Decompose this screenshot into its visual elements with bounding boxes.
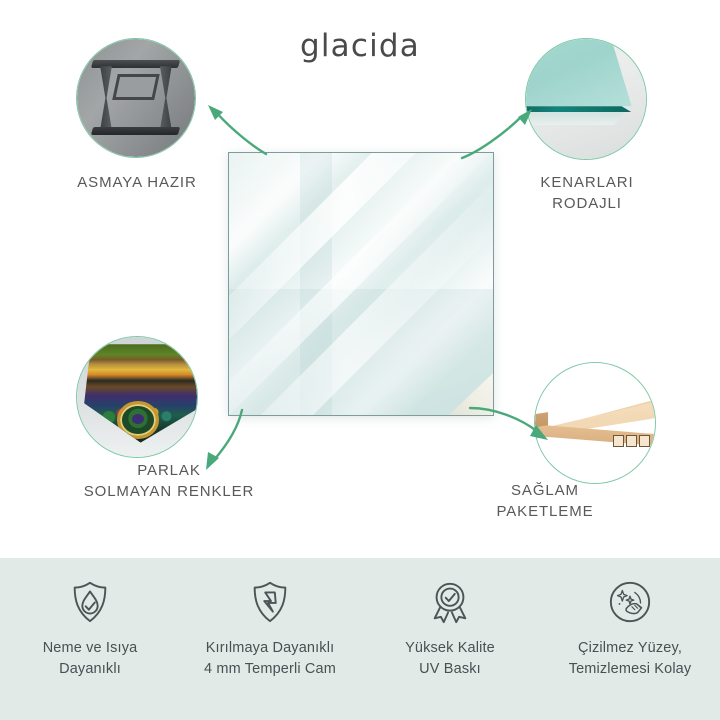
bracket-middle-slot: [112, 74, 159, 100]
bottom-feature-text-uv-print: Yüksek Kalite UV Baskı: [405, 638, 495, 680]
keep-dry-label-icon: [639, 435, 650, 447]
break-resistant-line2: 4 mm Temperli Cam: [204, 659, 336, 680]
caption-edge-line1: KENARLARI: [476, 172, 698, 193]
feature-image-packaging: [534, 362, 656, 484]
caption-colors: PARLAK SOLMAYAN RENKLER: [24, 460, 314, 503]
uv-print-line1: Yüksek Kalite: [405, 638, 495, 659]
feature-image-colors: [76, 336, 198, 458]
easy-clean-line2: Temizlemesi Kolay: [569, 659, 692, 680]
mount-bracket-shape: [97, 60, 175, 136]
this-way-up-label-icon: [626, 435, 637, 447]
uv-print-line2: UV Baskı: [405, 659, 495, 680]
shield-bolt-icon: [247, 579, 293, 625]
colorful-print-photo: [77, 337, 197, 457]
glass-tint-vertical: [300, 153, 332, 415]
bracket-bottom-plate: [91, 127, 181, 135]
caption-colors-line2: SOLMAYAN RENKLER: [24, 481, 314, 502]
protective-film-peeling-corner: [449, 373, 493, 415]
glass-tint-lower: [229, 289, 493, 415]
feature-image-edge: [525, 38, 647, 160]
glass-reflection-streak-3: [228, 183, 494, 416]
cardboard-box-photo: [535, 363, 655, 483]
shield-water-drop-icon: [67, 579, 113, 625]
bottom-feature-text-break-resistant: Kırılmaya Dayanıklı 4 mm Temperli Cam: [204, 638, 336, 680]
bottom-feature-bar: Neme ve Isıya Dayanıklı Kırılmaya Dayanı…: [0, 558, 720, 720]
bracket-left-leg: [100, 66, 112, 129]
bottom-feature-break-resistant: Kırılmaya Dayanıklı 4 mm Temperli Cam: [180, 558, 360, 680]
caption-mount-line1: ASMAYA HAZIR: [26, 172, 248, 193]
bottom-feature-text-moisture-heat: Neme ve Isıya Dayanıklı: [43, 638, 138, 680]
caption-packaging-line2: PAKETLEME: [414, 501, 676, 522]
glass-reflection-streak-1: [228, 152, 494, 370]
caption-edge: KENARLARI RODAJLI: [476, 172, 698, 215]
bottom-feature-uv-print: Yüksek Kalite UV Baskı: [360, 558, 540, 680]
polished-glass-edge-photo: [526, 39, 646, 159]
glass-reflection-streak-2: [228, 152, 494, 416]
caption-mount: ASMAYA HAZIR: [26, 172, 248, 193]
quality-badge-check-icon: [427, 579, 473, 625]
infographic-root: glacida: [0, 0, 720, 720]
bracket-right-leg: [160, 66, 172, 129]
caption-packaging-line1: SAĞLAM: [414, 480, 676, 501]
box-shipping-labels: [613, 435, 650, 447]
feature-image-mount: [76, 38, 196, 158]
bottom-feature-text-easy-clean: Çizilmez Yüzey, Temizlemesi Kolay: [569, 638, 692, 680]
tempered-glass-panel: [228, 152, 494, 416]
sparkle-wipe-icon: [607, 579, 653, 625]
moisture-heat-line1: Neme ve Isıya: [43, 638, 138, 659]
caption-edge-line2: RODAJLI: [476, 193, 698, 214]
caption-packaging: SAĞLAM PAKETLEME: [414, 480, 676, 523]
bottom-feature-easy-clean: Çizilmez Yüzey, Temizlemesi Kolay: [540, 558, 720, 680]
cardboard-box: [535, 399, 655, 449]
bottom-feature-moisture-heat: Neme ve Isıya Dayanıklı: [0, 558, 180, 680]
moisture-heat-line2: Dayanıklı: [43, 659, 138, 680]
break-resistant-line1: Kırılmaya Dayanıklı: [204, 638, 336, 659]
fragile-label-icon: [613, 435, 624, 447]
edge-polished-band: [526, 106, 632, 112]
caption-colors-line1: PARLAK: [24, 460, 314, 481]
easy-clean-line1: Çizilmez Yüzey,: [569, 638, 692, 659]
wall-mount-photo: [77, 39, 195, 157]
